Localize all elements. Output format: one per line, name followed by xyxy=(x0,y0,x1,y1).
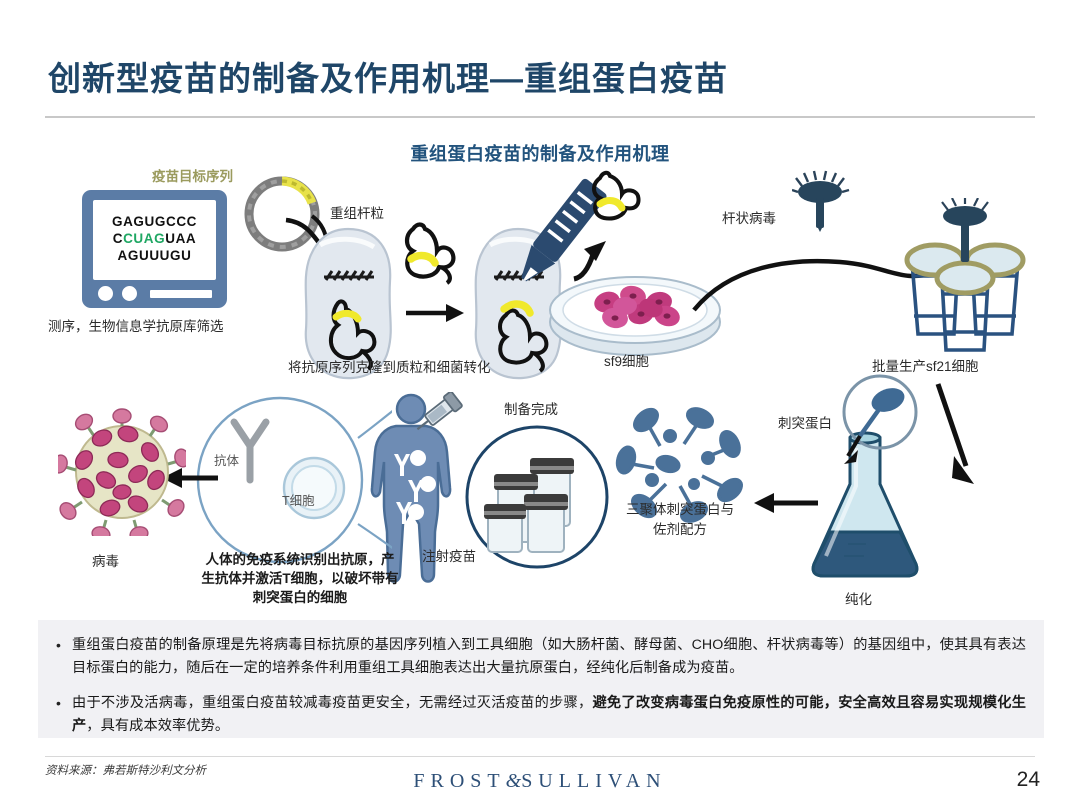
cloning-caption: 将抗原序列克隆到质粒和细菌转化 xyxy=(288,356,491,376)
baculovirus-particle-icon xyxy=(792,170,852,234)
frost-sullivan-logo: FROST&SULLIVAN xyxy=(0,770,1080,793)
arrow-flask-to-trimer-icon xyxy=(750,490,820,516)
free-plasmid-icon xyxy=(393,215,467,287)
ready-label: 制备完成 xyxy=(504,398,558,418)
sf9-label: sf9细胞 xyxy=(604,350,649,370)
dna-sequence-text: GAGUGCCC CCUAGUAA AGUUUGU xyxy=(93,200,216,264)
sequencer-monitor-icon: GAGUGCCC CCUAGUAA AGUUUGU xyxy=(82,190,227,308)
bullet-marker: • xyxy=(56,692,72,738)
purification-label: 纯化 xyxy=(845,588,872,608)
sequencing-caption: 测序，生物信息学抗原库筛选 xyxy=(48,315,224,335)
process-diagram: 疫苗目标序列 GAGUGCCC CCUAGUAA AGUUUGU 测序，生物信息… xyxy=(0,160,1080,615)
sequencer-screen: GAGUGCCC CCUAGUAA AGUUUGU xyxy=(93,200,216,280)
spike-protein-magnifier-icon xyxy=(830,370,930,480)
bullet-item: • 由于不涉及活病毒，重组蛋白疫苗较减毒疫苗更安全，无需经过灭活疫苗的步骤，避免… xyxy=(38,680,1044,738)
bullet-marker: • xyxy=(56,634,72,680)
bacmid-label: 重组杆粒 xyxy=(330,202,384,222)
title-divider xyxy=(45,116,1035,118)
trimer-adjuvant-label-line2: 佐剂配方 xyxy=(612,518,748,538)
arrow-between-bacteria-icon xyxy=(404,300,466,326)
recombinant-construct-icon xyxy=(584,166,646,222)
monitor-button-right-icon xyxy=(122,286,137,301)
monitor-slot-icon xyxy=(150,290,212,298)
bullet-item: • 重组蛋白疫苗的制备原理是先将病毒目标抗原的基因序列植入到工具细胞（如大肠杆菌… xyxy=(38,620,1044,680)
virus-label: 病毒 xyxy=(92,550,119,570)
baculovirus-label: 杆状病毒 xyxy=(722,207,776,227)
bullet-text: 重组蛋白疫苗的制备原理是先将病毒目标抗原的基因序列植入到工具细胞（如大肠杆菌、酵… xyxy=(72,634,1026,680)
virus-particle-icon xyxy=(58,408,186,536)
arrow-down-to-flask-icon xyxy=(930,380,990,490)
summary-panel: • 重组蛋白疫苗的制备原理是先将病毒目标抗原的基因序列植入到工具细胞（如大肠杆菌… xyxy=(38,620,1044,738)
immune-caption: 人体的免疫系统识别出抗原，产 生抗体并激活T细胞，以破坏带有 刺突蛋白的细胞 xyxy=(150,550,450,607)
monitor-button-left-icon xyxy=(98,286,113,301)
vaccine-vials-icon xyxy=(462,422,612,572)
bullet-text: 由于不涉及活病毒，重组蛋白疫苗较减毒疫苗更安全，无需经过灭活疫苗的步骤，避免了改… xyxy=(72,692,1026,738)
spike-protein-label: 刺突蛋白 xyxy=(778,412,832,432)
trimer-adjuvant-label-line1: 三聚体刺突蛋白与 xyxy=(612,498,748,518)
page-number: 24 xyxy=(1017,768,1040,792)
target-sequence-label: 疫苗目标序列 xyxy=(152,165,233,185)
slide-root: 创新型疫苗的制备及作用机理—重组蛋白疫苗 重组蛋白疫苗的制备及作用机理 疫苗目标… xyxy=(0,0,1080,810)
bioreactor-array-icon xyxy=(890,198,1040,358)
page-title: 创新型疫苗的制备及作用机理—重组蛋白疫苗 xyxy=(48,52,728,100)
footer-divider xyxy=(45,756,1035,757)
t-cell-label: T细胞 xyxy=(282,490,315,509)
